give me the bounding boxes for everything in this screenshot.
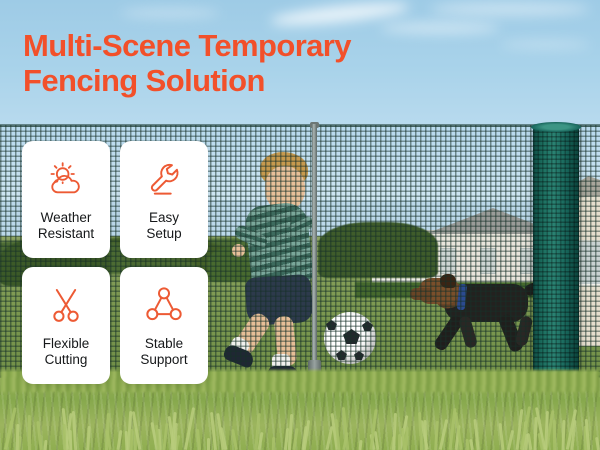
grass-blade xyxy=(72,411,77,450)
grass-blade xyxy=(292,428,298,450)
grass-blade xyxy=(359,440,363,450)
green-mesh-roll xyxy=(533,126,579,394)
ball-panel xyxy=(362,321,373,331)
grass-blade xyxy=(595,437,600,450)
feature-card-flexible-cutting[interactable]: Flexible Cutting xyxy=(22,267,110,384)
page-title: Multi-Scene Temporary Fencing Solution xyxy=(23,28,453,98)
feature-card-weather-resistant[interactable]: Weather Resistant xyxy=(22,141,110,258)
fence-post xyxy=(312,124,317,396)
label-line-2: Setup xyxy=(146,226,181,241)
grass-blade xyxy=(439,419,448,450)
grass-blade xyxy=(469,439,474,450)
feature-card-grid: Weather Resistant Easy Setup xyxy=(22,141,208,384)
grass-blade xyxy=(36,421,42,450)
label-line-1: Easy xyxy=(149,210,179,225)
house-window xyxy=(440,248,456,274)
grass-blade xyxy=(553,420,557,450)
grass-blade xyxy=(498,423,504,450)
feature-card-label: Easy Setup xyxy=(146,210,181,243)
grass-blade xyxy=(392,413,397,450)
label-line-1: Weather xyxy=(41,210,92,225)
house-window xyxy=(480,248,496,274)
grass-blade xyxy=(116,430,122,450)
grass-blade xyxy=(272,437,275,450)
grass-blade xyxy=(231,429,238,450)
ball-panel xyxy=(343,329,360,344)
grass-blade xyxy=(585,419,591,450)
sun-cloud-icon xyxy=(46,159,86,199)
scissors-icon xyxy=(46,285,86,325)
ball-panel xyxy=(354,351,364,360)
label-line-2: Resistant xyxy=(38,226,94,241)
grass-blade xyxy=(28,415,31,450)
grass-blade xyxy=(43,440,47,450)
grass-blade xyxy=(86,426,90,450)
cloud xyxy=(430,2,590,16)
grass-blade xyxy=(62,424,66,450)
label-line-2: Support xyxy=(140,352,187,367)
product-banner: Multi-Scene Temporary Fencing Solution W… xyxy=(0,0,600,450)
grass-blade xyxy=(210,412,217,450)
grass-blade xyxy=(507,430,514,450)
running-dog xyxy=(418,272,550,364)
ball-panel xyxy=(336,350,347,360)
mesh-roll-top xyxy=(531,122,581,132)
feature-card-easy-setup[interactable]: Easy Setup xyxy=(120,141,208,258)
grass-blade xyxy=(184,407,195,450)
dog-snout xyxy=(410,288,432,300)
headline-line-1: Multi-Scene Temporary xyxy=(23,28,351,63)
label-line-1: Flexible xyxy=(43,336,90,351)
grass-blade xyxy=(207,438,210,450)
grass-blade xyxy=(15,424,19,450)
label-line-2: Cutting xyxy=(45,352,88,367)
feature-card-stable-support[interactable]: Stable Support xyxy=(120,267,208,384)
grass-blade xyxy=(424,420,428,450)
grass-foreground xyxy=(0,378,600,450)
cloud xyxy=(500,40,590,49)
grass-blade xyxy=(196,429,201,450)
wrench-icon xyxy=(144,159,184,199)
feature-card-label: Flexible Cutting xyxy=(43,336,90,369)
label-line-1: Stable xyxy=(145,336,183,351)
boy-hand xyxy=(232,244,245,257)
grass-blade xyxy=(163,423,169,450)
grass-blade xyxy=(474,419,480,450)
fence-top-rail xyxy=(0,124,600,127)
dog-ear xyxy=(440,274,456,288)
grass-blade xyxy=(4,407,17,450)
cloud xyxy=(120,8,220,18)
feature-card-label: Stable Support xyxy=(140,336,187,369)
feature-card-label: Weather Resistant xyxy=(38,210,94,243)
triangle-nodes-icon xyxy=(144,285,184,325)
house-window xyxy=(576,240,600,286)
grass-blade xyxy=(527,433,533,450)
soccer-ball xyxy=(324,312,376,364)
grass-blade xyxy=(562,420,566,450)
grass-blade xyxy=(130,429,134,450)
headline-line-2: Fencing Solution xyxy=(23,63,453,98)
